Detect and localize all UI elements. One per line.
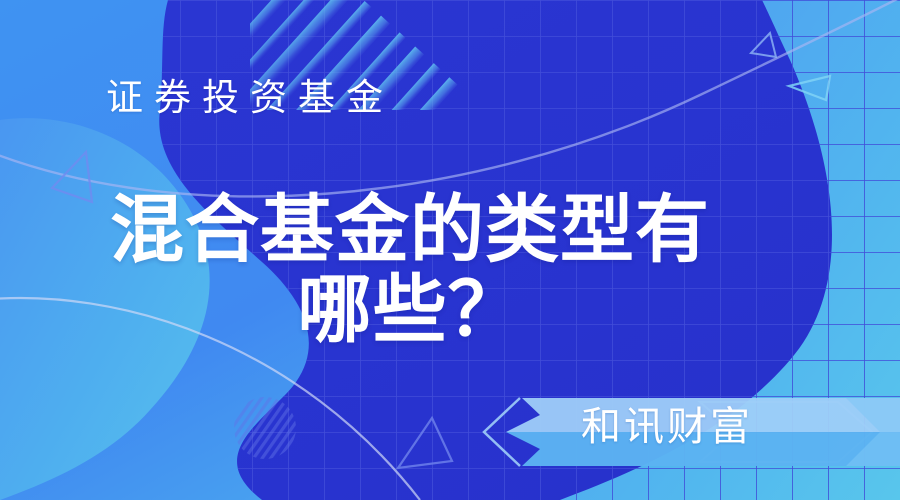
poster-headline: 混合基金的类型有 哪些？: [60, 190, 760, 350]
poster-canvas: 证券投资基金 混合基金的类型有 哪些？ 和讯财富: [0, 0, 900, 500]
striped-circle-decoration: [234, 397, 296, 459]
headline-line-1: 混合基金的类型有: [60, 190, 760, 270]
poster-subtitle: 证券投资基金: [106, 78, 394, 119]
brand-name-label: 和讯财富: [552, 402, 782, 452]
headline-line-2: 哪些？: [60, 270, 760, 350]
